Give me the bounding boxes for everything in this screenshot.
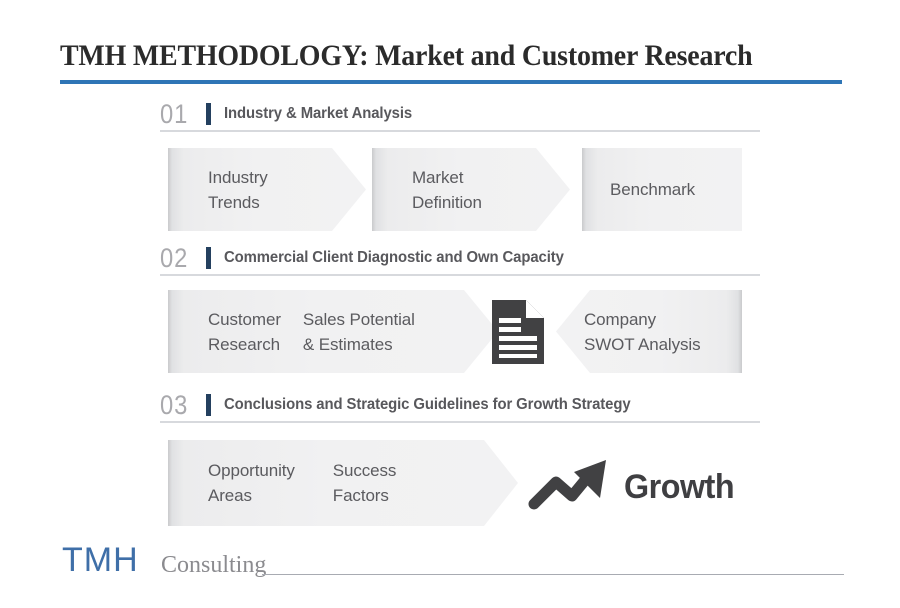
block-label: Industry Trends [208,165,268,215]
document-icon [492,300,544,369]
block-label-secondary: Success Factors [333,458,397,508]
section-header-02: 02 Commercial Client Diagnostic and Own … [160,243,589,273]
section-number-01: 01 [160,99,199,129]
section-header-01: 01 Industry & Market Analysis [160,99,426,129]
section-accent-bar-01 [206,103,211,125]
block-industry-trends[interactable]: Industry Trends [168,148,366,231]
section-rule-02 [160,274,760,276]
block-customer-research-sales-potential[interactable]: Customer Research Sales Potential & Esti… [168,290,498,373]
footer-rule [262,574,844,575]
page-title: TMH METHODOLOGY: Market and Customer Res… [60,38,840,74]
growth-arrow-icon [528,458,612,519]
section-title-01: Industry & Market Analysis [224,105,412,123]
section-accent-bar-03 [206,394,211,416]
section-number-02: 02 [160,243,199,273]
block-benchmark[interactable]: Benchmark [582,148,742,231]
block-label: Benchmark [610,177,695,202]
title-underline-rule [60,80,842,84]
section-accent-bar-02 [206,247,211,269]
slide-canvas: TMH METHODOLOGY: Market and Customer Res… [0,0,900,608]
section-rule-03 [160,421,760,423]
section-title-03: Conclusions and Strategic Guidelines for… [224,396,631,414]
section-title-02: Commercial Client Diagnostic and Own Cap… [224,249,564,267]
block-label: Company SWOT Analysis [584,307,700,357]
section-rule-01 [160,130,760,132]
block-label-secondary: Sales Potential & Estimates [303,307,415,357]
logo-consulting-word: Consulting [161,551,266,579]
page-title-text: TMH METHODOLOGY: Market and Customer Res… [60,38,785,74]
block-label: Market Definition [412,165,482,215]
block-opportunity-areas-success-factors[interactable]: Opportunity Areas Success Factors [168,440,518,526]
growth-label: Growth [624,468,734,507]
block-company-swot-analysis[interactable]: Company SWOT Analysis [556,290,742,373]
logo-tmh-mark: TMH [62,541,139,579]
section-number-03: 03 [160,390,199,420]
block-label: Opportunity Areas [208,458,295,508]
block-label: Customer Research [208,307,281,357]
block-market-definition[interactable]: Market Definition [372,148,570,231]
section-header-03: 03 Conclusions and Strategic Guidelines … [160,390,661,420]
